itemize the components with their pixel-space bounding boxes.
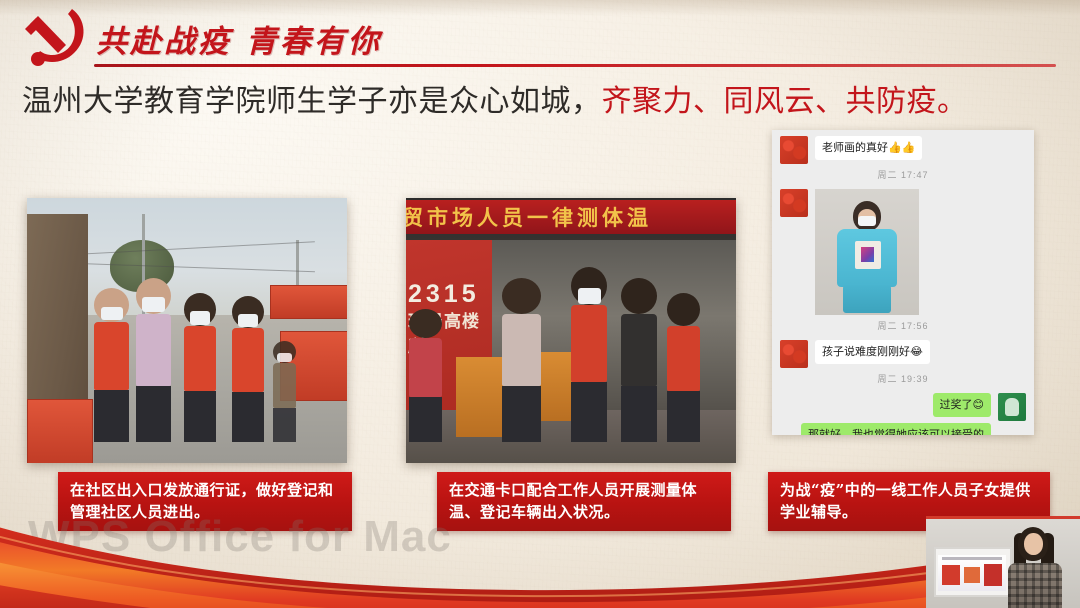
chat-bubble-outgoing: 那就好，我也觉得她应该可以接受的 — [801, 423, 991, 435]
photo2-shopper-coat — [409, 338, 442, 396]
chat-message-row — [772, 183, 1034, 315]
photo2-shopper-2 — [502, 278, 542, 442]
photo2-sign-number: 2315 — [408, 280, 480, 309]
screen-slide-thumb-3 — [984, 564, 1002, 586]
photo1-bystander — [273, 341, 295, 442]
photo2-shopper-head — [409, 309, 442, 338]
avatar — [780, 136, 808, 164]
avatar — [780, 189, 808, 217]
photo1-volunteer2-coat — [136, 314, 171, 386]
chat-image-child-mask — [858, 216, 876, 226]
presentation-slide: 共赴战疫 青春有你 温州大学教育学院师生学子亦是众心如城，齐聚力、同风云、共防疫… — [0, 0, 1080, 608]
chat-image-child-legs — [843, 285, 891, 313]
market-temperature-check-photo: 2315 理局高楼所 贸市场人员一律测体温 — [406, 198, 736, 463]
avatar — [998, 393, 1026, 421]
photo2-shopper3-head — [621, 278, 657, 314]
photo1-bystander-mask — [277, 353, 291, 362]
presenter-face — [1024, 533, 1043, 555]
photo1-volunteer-4 — [232, 296, 264, 442]
photo2-volunteer2-legs — [667, 391, 700, 441]
chat-message-row: 孩子说难度刚刚好😂 — [772, 334, 1034, 368]
chat-bubble-incoming: 老师画的真好👍👍 — [815, 136, 922, 160]
photo1-bystander-legs — [273, 408, 295, 442]
photo1-bystander-coat — [273, 363, 295, 407]
photo1-volunteer — [94, 288, 129, 442]
photo2-shopper-3 — [621, 278, 657, 442]
photo1-volunteer2-legs — [136, 386, 171, 442]
chat-timestamp: 周二 19:39 — [772, 368, 1034, 387]
chat-message-row: 那就好，我也觉得她应该可以接受的 — [772, 421, 1034, 435]
subtitle-highlight-text: 齐聚力、同风云、共防疫。 — [602, 85, 968, 118]
chat-message-row: 老师画的真好👍👍 — [772, 130, 1034, 164]
avatar — [780, 340, 808, 368]
chat-image-drawing-art — [861, 247, 874, 262]
photo1-volunteer3-legs — [184, 391, 216, 441]
chat-timestamp: 周二 17:56 — [772, 315, 1034, 334]
chat-image-message[interactable] — [815, 189, 919, 315]
screen-slide-thumb-1 — [942, 565, 960, 585]
photo2-banner-text: 贸市场人员一律测体温 — [406, 202, 652, 232]
photo1-volunteer-3 — [184, 293, 216, 441]
photo2-volunteer-legs — [571, 382, 607, 441]
photo2-shopper2-legs — [502, 386, 542, 442]
photo2-shopper2-head — [502, 278, 542, 314]
photo2-volunteer2-vest — [667, 326, 700, 391]
photo2-shopper2-coat — [502, 314, 542, 386]
screen-slide-thumb-2 — [964, 567, 980, 583]
photo2-volunteer2-head — [667, 293, 700, 326]
photo1-volunteer4-vest — [232, 328, 264, 392]
slide-title: 共赴战疫 青春有你 — [96, 16, 382, 61]
photo-caption: 在交通卡口配合工作人员开展测量体温、登记车辆出入状况。 — [437, 472, 731, 531]
photo1-volunteer3-mask — [190, 311, 210, 324]
page-subtitle: 温州大学教育学院师生学子亦是众心如城，齐聚力、同风云、共防疫。 — [22, 82, 968, 122]
photo1-volunteer4-mask — [238, 314, 258, 327]
header-divider — [94, 64, 1056, 67]
photo2-shopper3-coat — [621, 314, 657, 386]
community-checkpoint-photo — [27, 198, 347, 463]
photo2-volunteer-vest — [571, 305, 607, 382]
photo1-road-barrier-2 — [270, 285, 347, 319]
photo2-volunteer-mask — [578, 288, 601, 304]
photo2-volunteer — [571, 267, 607, 442]
chat-bubble-outgoing: 过奖了😊 — [933, 393, 991, 417]
cpc-hammer-sickle-emblem-icon — [16, 4, 94, 70]
presenter-plaid-shirt — [1008, 563, 1062, 608]
photo2-shopper-legs — [409, 397, 442, 442]
photo1-volunteer-mask — [101, 307, 124, 321]
presenter-monitor — [934, 547, 1012, 597]
slide-header: 共赴战疫 青春有你 — [0, 0, 1080, 74]
photo1-volunteer-vest — [94, 322, 129, 390]
photo1-volunteer2-mask — [142, 297, 165, 312]
photo2-shopper3-legs — [621, 386, 657, 442]
photo1-volunteer-legs — [94, 390, 129, 442]
photo1-volunteer4-legs — [232, 392, 264, 442]
photo1-volunteer3-vest — [184, 326, 216, 391]
photo2-red-banner: 贸市场人员一律测体温 — [406, 200, 736, 234]
photo1-volunteer-2 — [136, 278, 171, 442]
presenter-video-thumbnail[interactable] — [926, 516, 1080, 608]
screen-toolbar — [942, 557, 1002, 560]
subtitle-lead-text: 温州大学教育学院师生学子亦是众心如城， — [22, 85, 602, 118]
chat-timestamp: 周二 17:47 — [772, 164, 1034, 183]
presenter-screen-content — [938, 555, 1006, 591]
photo2-shopper — [409, 309, 442, 442]
photo1-road-barrier-3 — [27, 399, 93, 463]
wechat-tutoring-chat[interactable]: 老师画的真好👍👍 周二 17:47 周二 17:56 孩子说难度刚刚好😂 周二 … — [772, 130, 1034, 435]
photo2-volunteer-2 — [667, 293, 700, 441]
wps-watermark: WPS Office for Mac — [28, 512, 452, 562]
chat-message-row: 过奖了😊 — [772, 387, 1034, 421]
chat-bubble-incoming: 孩子说难度刚刚好😂 — [815, 340, 930, 364]
